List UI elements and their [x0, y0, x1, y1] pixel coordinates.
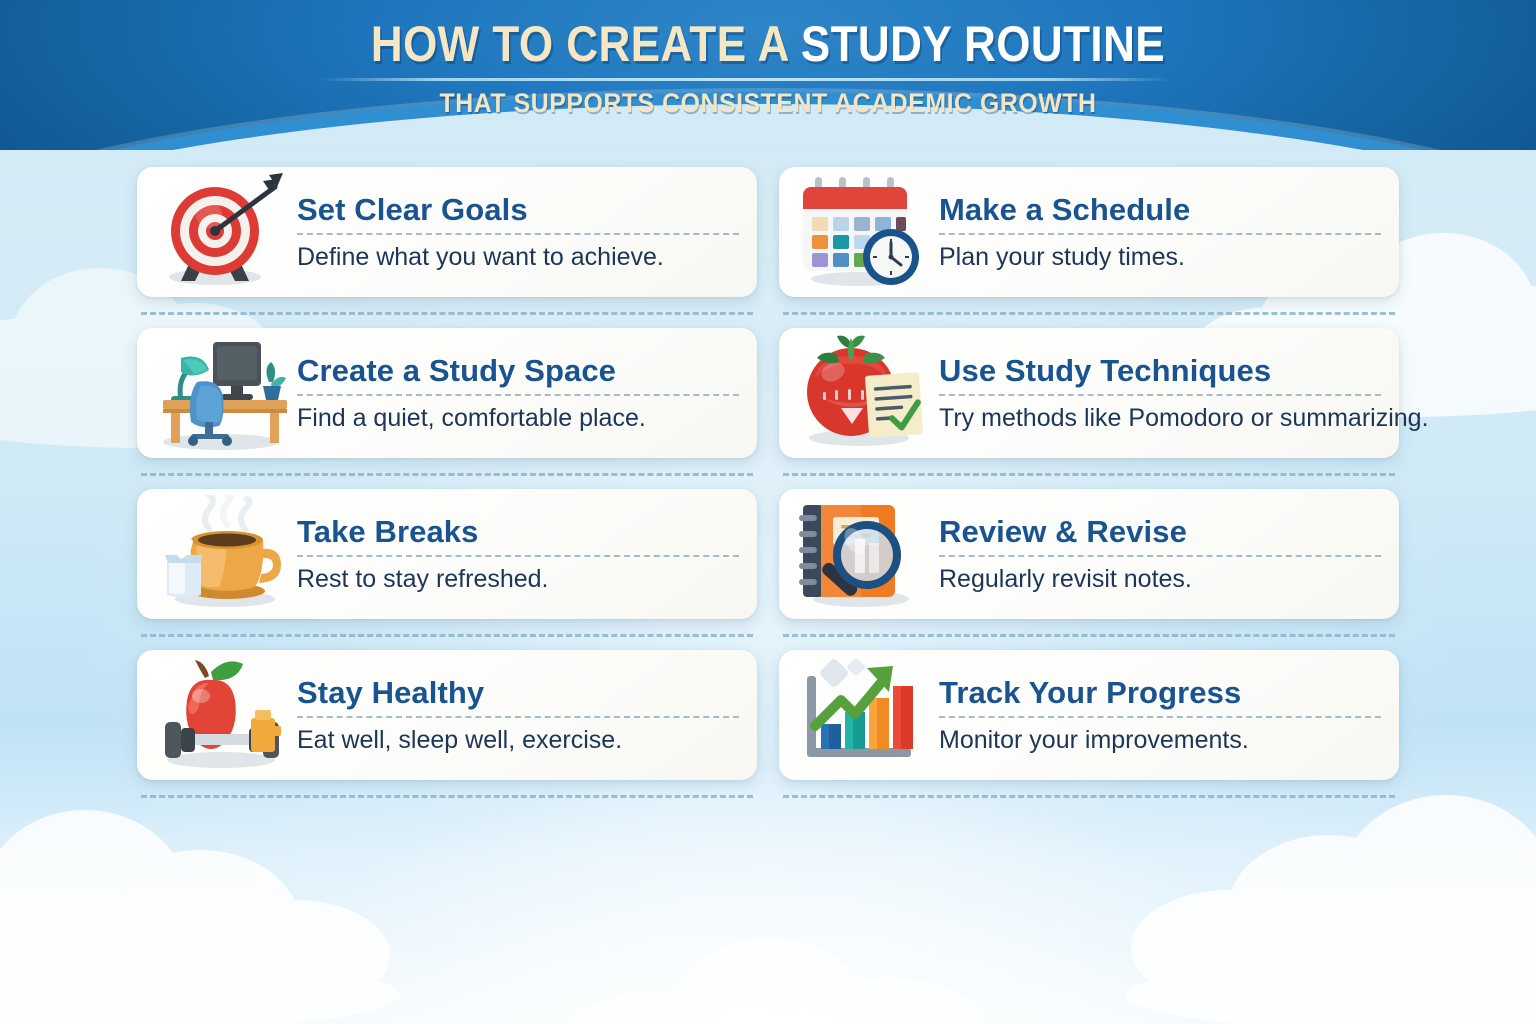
- row-separator: [783, 473, 1395, 476]
- cloud-decoration-left-lower: [0, 790, 400, 1020]
- card-title-divider: [939, 555, 1381, 557]
- card-title-divider: [297, 716, 739, 718]
- card-review-and-revise[interactable]: Review & Revise Regularly revisit notes.: [779, 489, 1399, 619]
- row-separator: [141, 312, 753, 315]
- card-title-divider: [297, 233, 739, 235]
- card-description: Regularly revisit notes.: [939, 564, 1381, 594]
- card-description: Find a quiet, comfortable place.: [297, 403, 739, 433]
- card-title: Create a Study Space: [297, 353, 739, 389]
- card-body: Take Breaks Rest to stay refreshed.: [293, 514, 739, 594]
- cloud-decoration-center-lower: [560, 920, 1020, 1024]
- pomodoro-tomato-note-icon: [793, 334, 935, 452]
- target-arrow-icon: [151, 173, 293, 291]
- row-separator: [783, 312, 1395, 315]
- card-body: Use Study Techniques Try methods like Po…: [935, 353, 1381, 433]
- card-title-divider: [297, 394, 739, 396]
- row-separator: [141, 634, 753, 637]
- card-title-divider: [297, 555, 739, 557]
- card-body: Track Your Progress Monitor your improve…: [935, 675, 1381, 755]
- page-title-part-two: STUDY ROUTINE: [801, 16, 1165, 72]
- row-separator: [141, 795, 753, 798]
- cloud-decoration-right-lower: [1126, 780, 1536, 1024]
- card-description: Try methods like Pomodoro or summarizing…: [939, 403, 1381, 433]
- card-title-divider: [939, 716, 1381, 718]
- row-separator: [783, 795, 1395, 798]
- card-title-divider: [939, 394, 1381, 396]
- card-use-study-techniques[interactable]: Use Study Techniques Try methods like Po…: [779, 328, 1399, 458]
- card-make-a-schedule[interactable]: Make a Schedule Plan your study times.: [779, 167, 1399, 297]
- infographic-canvas: HOW TO CREATE A STUDY ROUTINE THAT SUPPO…: [0, 0, 1536, 1024]
- card-create-a-study-space[interactable]: Create a Study Space Find a quiet, comfo…: [137, 328, 757, 458]
- coffee-cup-icon: [151, 495, 293, 613]
- card-title: Stay Healthy: [297, 675, 739, 711]
- card-body: Set Clear Goals Define what you want to …: [293, 192, 739, 272]
- card-description: Monitor your improvements.: [939, 725, 1381, 755]
- desk-workspace-icon: [151, 334, 293, 452]
- card-title: Make a Schedule: [939, 192, 1381, 228]
- card-body: Create a Study Space Find a quiet, comfo…: [293, 353, 739, 433]
- card-body: Make a Schedule Plan your study times.: [935, 192, 1381, 272]
- apple-dumbbell-icon: [151, 656, 293, 774]
- row-separator: [783, 634, 1395, 637]
- page-title-part-one: HOW TO CREATE A: [371, 16, 801, 72]
- calendar-clock-icon: [793, 173, 935, 291]
- card-stay-healthy[interactable]: Stay Healthy Eat well, sleep well, exerc…: [137, 650, 757, 780]
- card-title: Take Breaks: [297, 514, 739, 550]
- card-set-clear-goals[interactable]: Set Clear Goals Define what you want to …: [137, 167, 757, 297]
- card-take-breaks[interactable]: Take Breaks Rest to stay refreshed.: [137, 489, 757, 619]
- card-description: Define what you want to achieve.: [297, 242, 739, 272]
- card-body: Review & Revise Regularly revisit notes.: [935, 514, 1381, 594]
- page-title: HOW TO CREATE A STUDY ROUTINE: [92, 16, 1444, 72]
- card-title: Review & Revise: [939, 514, 1381, 550]
- card-description: Plan your study times.: [939, 242, 1381, 272]
- card-title: Track Your Progress: [939, 675, 1381, 711]
- cards-grid: Set Clear Goals Define what you want to …: [137, 167, 1399, 782]
- card-title: Use Study Techniques: [939, 353, 1381, 389]
- card-track-your-progress[interactable]: Track Your Progress Monitor your improve…: [779, 650, 1399, 780]
- card-body: Stay Healthy Eat well, sleep well, exerc…: [293, 675, 739, 755]
- card-description: Rest to stay refreshed.: [297, 564, 739, 594]
- header-banner: HOW TO CREATE A STUDY ROUTINE THAT SUPPO…: [0, 0, 1536, 150]
- notebook-magnifier-icon: [793, 495, 935, 613]
- row-separator: [141, 473, 753, 476]
- title-divider-line: [320, 78, 1170, 81]
- card-description: Eat well, sleep well, exercise.: [297, 725, 739, 755]
- bar-chart-arrow-icon: [793, 656, 935, 774]
- page-subtitle: THAT SUPPORTS CONSISTENT ACADEMIC GROWTH: [61, 88, 1474, 119]
- card-title-divider: [939, 233, 1381, 235]
- card-title: Set Clear Goals: [297, 192, 739, 228]
